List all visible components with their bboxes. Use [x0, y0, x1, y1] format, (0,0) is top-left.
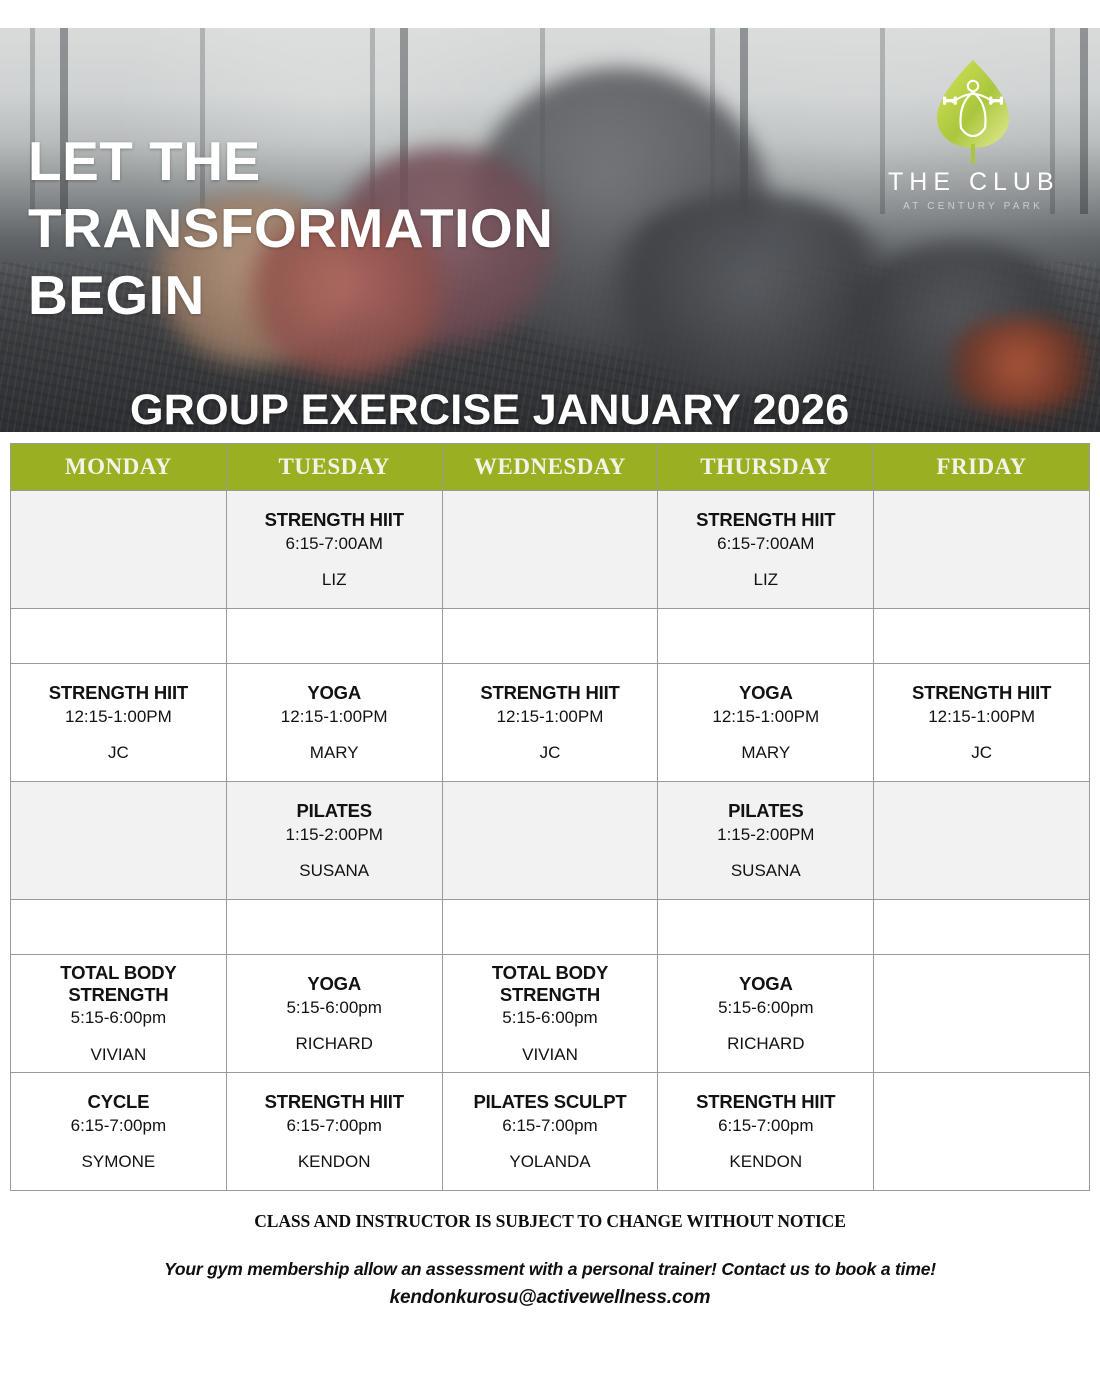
empty-cell-filler	[15, 840, 222, 841]
class-title: YOGA	[662, 973, 869, 995]
class-time: 5:15-6:00pm	[231, 998, 438, 1018]
class-cell[interactable]: STRENGTH HIIT6:15-7:00AMLIZ	[658, 491, 874, 609]
club-logo-tagline: AT CENTURY PARK	[888, 201, 1058, 212]
empty-cell	[874, 1073, 1090, 1191]
empty-cell	[658, 900, 874, 955]
class-title: PILATES	[231, 800, 438, 822]
class-instructor: KENDON	[662, 1152, 869, 1172]
class-time: 12:15-1:00PM	[15, 707, 222, 727]
class-cell[interactable]: PILATES1:15-2:00PMSUSANA	[658, 782, 874, 900]
empty-cell-filler	[11, 927, 226, 928]
class-instructor: VIVIAN	[447, 1045, 654, 1065]
class-title: CYCLE	[15, 1091, 222, 1113]
class-cell[interactable]: YOGA12:15-1:00PMMARY	[226, 664, 442, 782]
class-cell[interactable]: YOGA12:15-1:00PMMARY	[658, 664, 874, 782]
empty-cell	[874, 955, 1090, 1073]
day-header-monday: MONDAY	[11, 444, 227, 491]
class-time: 6:15-7:00pm	[231, 1116, 438, 1136]
class-time: 5:15-6:00pm	[15, 1008, 222, 1028]
schedule-body: STRENGTH HIIT6:15-7:00AMLIZSTRENGTH HIIT…	[11, 491, 1090, 1191]
class-time: 5:15-6:00pm	[662, 998, 869, 1018]
class-title: STRENGTH HIIT	[231, 509, 438, 531]
class-cell[interactable]: PILATES1:15-2:00PMSUSANA	[226, 782, 442, 900]
class-instructor: KENDON	[231, 1152, 438, 1172]
empty-cell	[874, 491, 1090, 609]
class-time: 6:15-7:00AM	[662, 534, 869, 554]
class-title: STRENGTH HIIT	[15, 682, 222, 704]
schedule-class-row: PILATES1:15-2:00PMSUSANAPILATES1:15-2:00…	[11, 782, 1090, 900]
schedule-footer: CLASS AND INSTRUCTOR IS SUBJECT TO CHANG…	[0, 1191, 1100, 1309]
empty-cell	[11, 900, 227, 955]
empty-cell	[442, 491, 658, 609]
class-title: STRENGTH HIIT	[662, 509, 869, 531]
class-instructor: MARY	[662, 743, 869, 763]
class-time: 12:15-1:00PM	[231, 707, 438, 727]
class-title: TOTAL BODY STRENGTH	[447, 962, 654, 1006]
empty-cell	[442, 782, 658, 900]
footer-promo: Your gym membership allow an assessment …	[0, 1259, 1100, 1280]
class-cell[interactable]: STRENGTH HIIT6:15-7:00AMLIZ	[226, 491, 442, 609]
day-header-tuesday: TUESDAY	[226, 444, 442, 491]
schedule-class-row: TOTAL BODY STRENGTH5:15-6:00pmVIVIANYOGA…	[11, 955, 1090, 1073]
class-title: STRENGTH HIIT	[878, 682, 1085, 704]
day-header-friday: FRIDAY	[874, 444, 1090, 491]
schedule-class-row: CYCLE6:15-7:00pmSYMONESTRENGTH HIIT6:15-…	[11, 1073, 1090, 1191]
empty-cell-filler	[878, 840, 1085, 841]
empty-cell-filler	[443, 636, 658, 637]
empty-cell-filler	[874, 927, 1089, 928]
class-title: PILATES SCULPT	[447, 1091, 654, 1113]
empty-cell-filler	[658, 636, 873, 637]
empty-cell-filler	[447, 840, 654, 841]
empty-cell	[11, 609, 227, 664]
empty-cell-filler	[878, 1131, 1085, 1132]
empty-cell-filler	[658, 927, 873, 928]
empty-cell-filler	[227, 927, 442, 928]
class-cell[interactable]: STRENGTH HIIT12:15-1:00PMJC	[442, 664, 658, 782]
class-instructor: JC	[15, 743, 222, 763]
empty-cell-filler	[874, 636, 1089, 637]
class-time: 1:15-2:00PM	[662, 825, 869, 845]
empty-cell	[226, 900, 442, 955]
class-time: 12:15-1:00PM	[447, 707, 654, 727]
empty-cell-filler	[11, 636, 226, 637]
empty-cell	[11, 491, 227, 609]
class-title: STRENGTH HIIT	[662, 1091, 869, 1113]
empty-cell-filler	[878, 1013, 1085, 1014]
class-instructor: JC	[878, 743, 1085, 763]
day-header-thursday: THURSDAY	[658, 444, 874, 491]
empty-cell-filler	[878, 549, 1085, 550]
schedule-class-row: STRENGTH HIIT6:15-7:00AMLIZSTRENGTH HIIT…	[11, 491, 1090, 609]
class-time: 12:15-1:00PM	[662, 707, 869, 727]
empty-cell	[442, 900, 658, 955]
empty-cell	[11, 782, 227, 900]
empty-cell-filler	[15, 549, 222, 550]
empty-cell-filler	[443, 927, 658, 928]
empty-cell	[874, 900, 1090, 955]
class-title: STRENGTH HIIT	[447, 682, 654, 704]
class-cell[interactable]: STRENGTH HIIT12:15-1:00PMJC	[11, 664, 227, 782]
class-time: 12:15-1:00PM	[878, 707, 1085, 727]
class-instructor: MARY	[231, 743, 438, 763]
class-time: 6:15-7:00pm	[662, 1116, 869, 1136]
class-schedule-table: MONDAYTUESDAYWEDNESDAYTHURSDAYFRIDAY STR…	[10, 443, 1090, 1191]
class-title: TOTAL BODY STRENGTH	[15, 962, 222, 1006]
class-time: 5:15-6:00pm	[447, 1008, 654, 1028]
class-time: 6:15-7:00AM	[231, 534, 438, 554]
class-time: 1:15-2:00PM	[231, 825, 438, 845]
hero-subtitle: GROUP EXERCISE JANUARY 2026	[130, 386, 849, 432]
class-instructor: LIZ	[662, 570, 869, 590]
class-cell[interactable]: STRENGTH HIIT6:15-7:00pmKENDON	[658, 1073, 874, 1191]
figure-shoe	[940, 318, 1100, 413]
class-instructor: YOLANDA	[447, 1152, 654, 1172]
class-instructor: JC	[447, 743, 654, 763]
club-logo-name: THE CLUB	[888, 168, 1058, 197]
schedule-section: MONDAYTUESDAYWEDNESDAYTHURSDAYFRIDAY STR…	[0, 432, 1100, 1191]
class-title: YOGA	[662, 682, 869, 704]
hero-headline: LET THE TRANSFORMATION BEGIN	[28, 128, 553, 329]
class-title: YOGA	[231, 973, 438, 995]
class-instructor: LIZ	[231, 570, 438, 590]
schedule-header-row: MONDAYTUESDAYWEDNESDAYTHURSDAYFRIDAY	[11, 444, 1090, 491]
empty-cell	[874, 782, 1090, 900]
class-time: 6:15-7:00pm	[15, 1116, 222, 1136]
class-title: YOGA	[231, 682, 438, 704]
footer-notice: CLASS AND INSTRUCTOR IS SUBJECT TO CHANG…	[0, 1211, 1100, 1232]
hero-banner: LET THE TRANSFORMATION BEGIN GROUP EXERC…	[0, 28, 1100, 432]
schedule-class-row: STRENGTH HIIT12:15-1:00PMJCYOGA12:15-1:0…	[11, 664, 1090, 782]
empty-cell	[658, 609, 874, 664]
class-instructor: RICHARD	[662, 1034, 869, 1054]
class-cell[interactable]: CYCLE6:15-7:00pmSYMONE	[11, 1073, 227, 1191]
class-instructor: VIVIAN	[15, 1045, 222, 1065]
class-cell[interactable]: STRENGTH HIIT6:15-7:00pmKENDON	[226, 1073, 442, 1191]
empty-cell	[226, 609, 442, 664]
class-title: PILATES	[662, 800, 869, 822]
empty-cell	[442, 609, 658, 664]
class-cell[interactable]: YOGA5:15-6:00pmRICHARD	[226, 955, 442, 1073]
class-cell[interactable]: PILATES SCULPT6:15-7:00pmYOLANDA	[442, 1073, 658, 1191]
class-cell[interactable]: YOGA5:15-6:00pmRICHARD	[658, 955, 874, 1073]
empty-cell-filler	[447, 549, 654, 550]
class-title: STRENGTH HIIT	[231, 1091, 438, 1113]
footer-email[interactable]: kendonkurosu@activewellness.com	[0, 1287, 1100, 1309]
club-logo: THE CLUB AT CENTURY PARK	[888, 56, 1058, 212]
schedule-spacer-row	[11, 609, 1090, 664]
class-instructor: SUSANA	[662, 861, 869, 881]
day-header-wednesday: WEDNESDAY	[442, 444, 658, 491]
class-instructor: RICHARD	[231, 1034, 438, 1054]
class-instructor: SYMONE	[15, 1152, 222, 1172]
class-time: 6:15-7:00pm	[447, 1116, 654, 1136]
class-cell[interactable]: TOTAL BODY STRENGTH5:15-6:00pmVIVIAN	[442, 955, 658, 1073]
schedule-spacer-row	[11, 900, 1090, 955]
empty-cell	[874, 609, 1090, 664]
class-cell[interactable]: TOTAL BODY STRENGTH5:15-6:00pmVIVIAN	[11, 955, 227, 1073]
leaf-weightlifter-icon	[929, 56, 1017, 166]
class-cell[interactable]: STRENGTH HIIT12:15-1:00PMJC	[874, 664, 1090, 782]
class-instructor: SUSANA	[231, 861, 438, 881]
empty-cell-filler	[227, 636, 442, 637]
